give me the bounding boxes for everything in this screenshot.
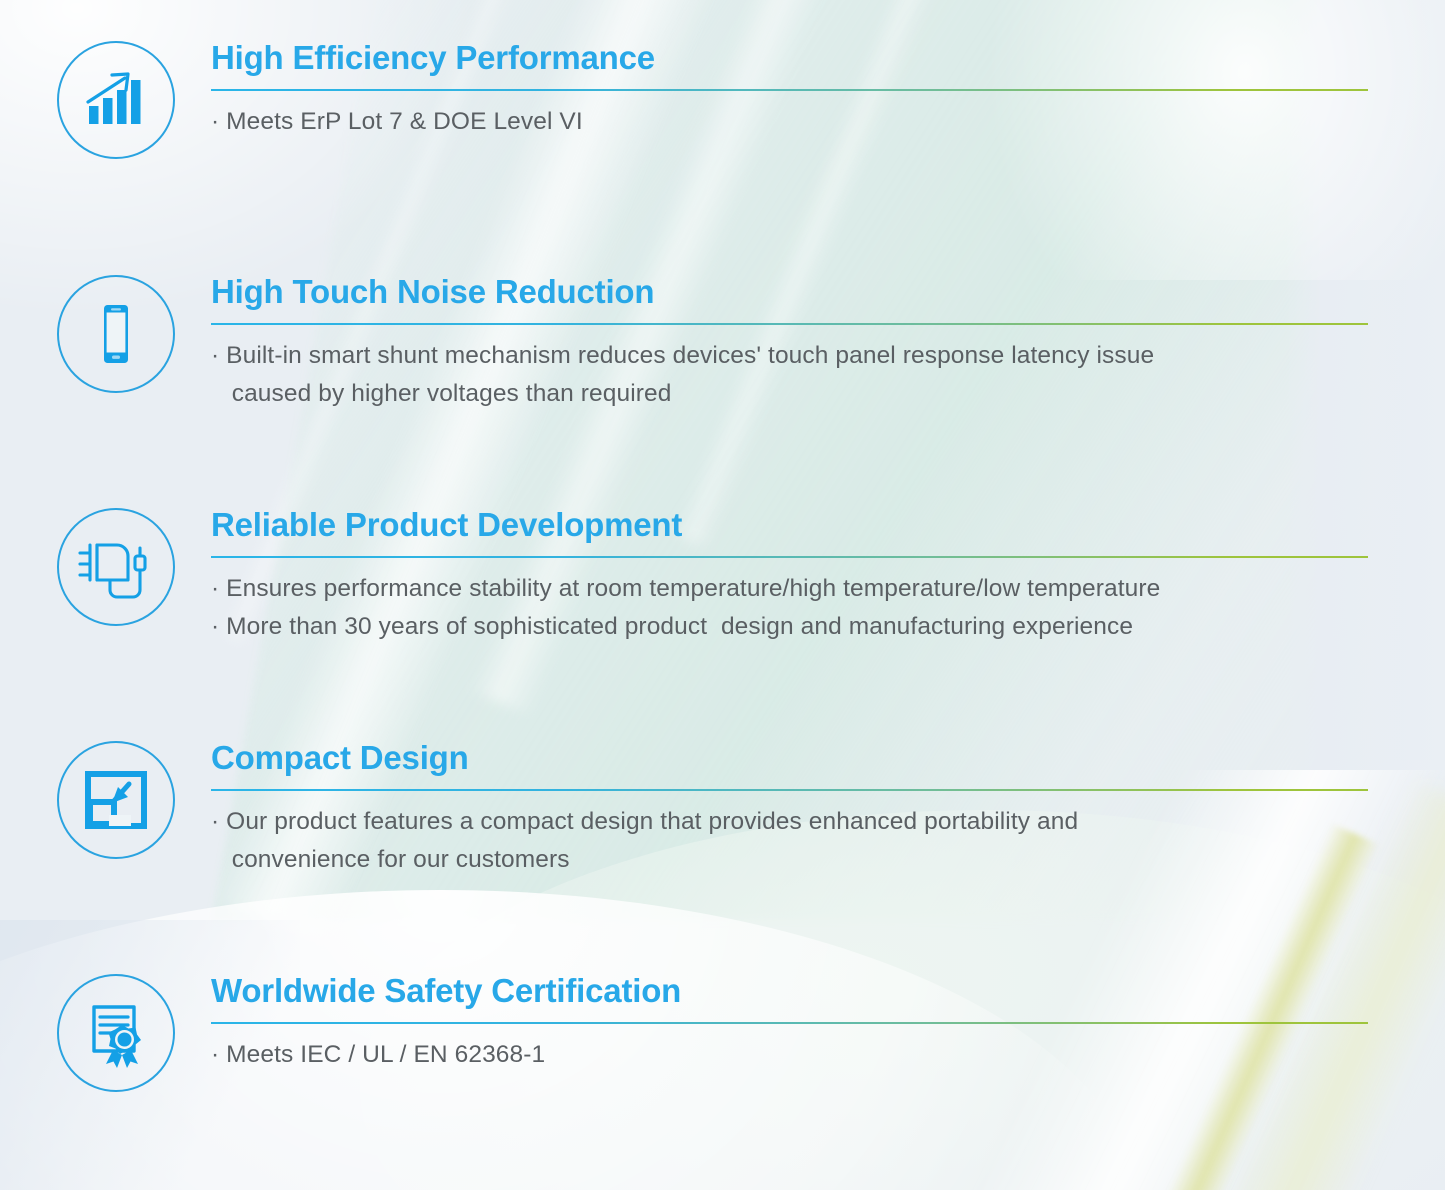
smartphone-icon xyxy=(57,275,175,393)
feature-item-worldwide-safety-certification: Worldwide Safety Certification · Meets I… xyxy=(0,974,1445,1092)
certificate-seal-icon xyxy=(57,974,175,1092)
feature-item-compact-design: Compact Design · Our product features a … xyxy=(0,741,1445,879)
feature-icon-wrapper xyxy=(56,974,176,1092)
feature-body: Compact Design · Our product features a … xyxy=(211,741,1445,879)
feature-body: High Efficiency Performance · Meets ErP … xyxy=(211,41,1445,141)
feature-item-high-touch-noise-reduction: High Touch Noise Reduction · Built-in sm… xyxy=(0,275,1445,413)
feature-divider xyxy=(211,89,1368,91)
feature-bullet: · Meets IEC / UL / EN 62368-1 xyxy=(211,1036,1445,1074)
feature-bullets: · Ensures performance stability at room … xyxy=(211,570,1445,646)
feature-bullet: · Meets ErP Lot 7 & DOE Level VI xyxy=(211,103,1445,141)
feature-icon-wrapper xyxy=(56,508,176,626)
feature-title: High Efficiency Performance xyxy=(211,41,1445,76)
feature-title: Worldwide Safety Certification xyxy=(211,974,1445,1009)
compact-resize-icon xyxy=(57,741,175,859)
feature-title: Reliable Product Development xyxy=(211,508,1445,543)
feature-body: Reliable Product Development · Ensures p… xyxy=(211,508,1445,646)
bar-chart-growth-icon xyxy=(57,41,175,159)
feature-bullet: · Ensures performance stability at room … xyxy=(211,570,1445,608)
feature-divider xyxy=(211,323,1368,325)
feature-icon-wrapper xyxy=(56,275,176,393)
feature-bullet: · Our product features a compact design … xyxy=(211,803,1445,879)
feature-body: High Touch Noise Reduction · Built-in sm… xyxy=(211,275,1445,413)
feature-title: High Touch Noise Reduction xyxy=(211,275,1445,310)
feature-bullets: · Meets ErP Lot 7 & DOE Level VI xyxy=(211,103,1445,141)
feature-bullets: · Meets IEC / UL / EN 62368-1 xyxy=(211,1036,1445,1074)
feature-bullet: · More than 30 years of sophisticated pr… xyxy=(211,608,1445,646)
feature-item-high-efficiency-performance: High Efficiency Performance · Meets ErP … xyxy=(0,41,1445,159)
feature-item-reliable-product-development: Reliable Product Development · Ensures p… xyxy=(0,508,1445,646)
feature-bullet: · Built-in smart shunt mechanism reduces… xyxy=(211,337,1445,413)
feature-bullets: · Our product features a compact design … xyxy=(211,803,1445,879)
feature-divider xyxy=(211,556,1368,558)
feature-icon-wrapper xyxy=(56,741,176,859)
power-adapter-icon xyxy=(57,508,175,626)
feature-body: Worldwide Safety Certification · Meets I… xyxy=(211,974,1445,1074)
feature-title: Compact Design xyxy=(211,741,1445,776)
feature-highlights-page: High Efficiency Performance · Meets ErP … xyxy=(0,0,1445,1190)
feature-divider xyxy=(211,789,1368,791)
feature-divider xyxy=(211,1022,1368,1024)
feature-bullets: · Built-in smart shunt mechanism reduces… xyxy=(211,337,1445,413)
feature-icon-wrapper xyxy=(56,41,176,159)
